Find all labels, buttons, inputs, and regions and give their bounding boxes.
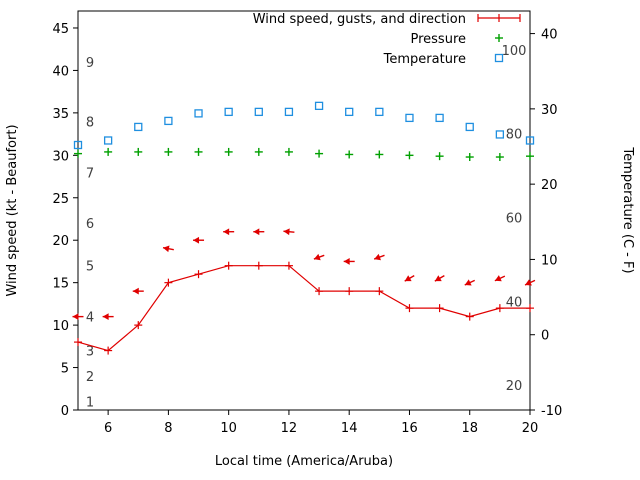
x-axis-tick-label: 12 <box>281 421 298 436</box>
wind-direction-arrowhead <box>223 228 229 235</box>
weather-chart: 051015202530354045Wind speed (kt - Beauf… <box>0 0 640 480</box>
temperature-point <box>105 137 112 144</box>
temperature-point <box>225 108 232 115</box>
x-axis-tick-label: 18 <box>461 421 478 436</box>
temperature-point <box>376 108 383 115</box>
temperature-point <box>466 123 473 130</box>
y-axis-right-title: Temperature (C - F) <box>620 146 635 273</box>
legend-label-pressure: Pressure <box>410 32 466 47</box>
legend-label-wind: Wind speed, gusts, and direction <box>253 12 466 27</box>
y-axis-left-tick-label: 20 <box>52 234 69 249</box>
temperature-point <box>406 114 413 121</box>
y-axis-left-title: Wind speed (kt - Beaufort) <box>5 124 20 296</box>
beaufort-label: 8 <box>86 115 94 130</box>
y-axis-left-tick-label: 10 <box>52 319 69 334</box>
series-temperature <box>75 102 534 148</box>
wind-direction-arrowhead <box>163 245 169 252</box>
y-axis-right: -10010203040Temperature (C - F) <box>530 28 635 419</box>
fahrenheit-scale: 20406080100 <box>502 44 527 394</box>
beaufort-label: 6 <box>86 217 94 232</box>
y-axis-left-tick-label: 0 <box>61 404 69 419</box>
y-axis-left-tick-label: 30 <box>52 149 69 164</box>
x-axis-tick-label: 16 <box>401 421 418 436</box>
x-axis-tick-label: 10 <box>220 421 237 436</box>
temperature-point <box>316 102 323 109</box>
wind-direction-arrowhead <box>344 258 350 265</box>
temperature-point <box>346 108 353 115</box>
x-axis: 68101214161820Local time (America/Aruba) <box>104 410 538 469</box>
temperature-point <box>436 114 443 121</box>
y-axis-right-tick-label: -10 <box>541 404 562 419</box>
axis-frame <box>78 11 530 410</box>
y-axis-left-tick-label: 40 <box>52 64 69 79</box>
beaufort-label: 2 <box>86 370 94 385</box>
plot-frame <box>78 11 530 410</box>
y-axis-left: 051015202530354045Wind speed (kt - Beauf… <box>5 22 78 419</box>
fahrenheit-label: 20 <box>506 379 523 394</box>
y-axis-right-tick-label: 10 <box>541 253 558 268</box>
wind-direction-arrowhead <box>133 288 139 295</box>
temperature-point <box>255 108 262 115</box>
legend-label-temperature: Temperature <box>383 52 466 67</box>
temperature-point <box>285 108 292 115</box>
wind-direction-arrows <box>73 228 535 320</box>
y-axis-left-tick-label: 45 <box>52 22 69 37</box>
wind-direction-arrowhead <box>193 237 199 244</box>
y-axis-left-tick-label: 35 <box>52 107 69 122</box>
beaufort-label: 1 <box>86 396 94 411</box>
y-axis-left-tick-label: 15 <box>52 277 69 292</box>
y-axis-right-tick-label: 20 <box>541 178 558 193</box>
x-axis-tick-label: 8 <box>164 421 172 436</box>
series-wind <box>74 262 534 355</box>
fahrenheit-label: 100 <box>502 44 527 59</box>
y-axis-right-tick-label: 30 <box>541 103 558 118</box>
temperature-point <box>135 123 142 130</box>
fahrenheit-label: 80 <box>506 128 523 143</box>
y-axis-right-tick-label: 40 <box>541 28 558 43</box>
beaufort-label: 9 <box>86 56 94 71</box>
temperature-point <box>496 131 503 138</box>
beaufort-label: 4 <box>86 311 94 326</box>
wind-speed-line <box>78 266 530 351</box>
y-axis-left-tick-label: 25 <box>52 192 69 207</box>
wind-direction-arrowhead <box>253 228 259 235</box>
beaufort-label: 5 <box>86 260 94 275</box>
x-axis-tick-label: 20 <box>522 421 539 436</box>
wind-direction-arrowhead <box>283 228 289 235</box>
x-axis-title: Local time (America/Aruba) <box>215 454 393 469</box>
beaufort-scale: 123456789 <box>86 56 94 411</box>
beaufort-label: 7 <box>86 166 94 181</box>
series-pressure <box>74 148 534 161</box>
wind-direction-arrowhead <box>73 313 79 320</box>
chart-container: 051015202530354045Wind speed (kt - Beauf… <box>0 0 640 480</box>
temperature-point <box>165 117 172 124</box>
temperature-point <box>195 110 202 117</box>
wind-direction-arrowhead <box>103 313 109 320</box>
x-axis-tick-label: 6 <box>104 421 112 436</box>
fahrenheit-label: 60 <box>506 211 523 226</box>
legend: Wind speed, gusts, and directionPressure… <box>253 12 520 67</box>
x-axis-tick-label: 14 <box>341 421 358 436</box>
y-axis-left-tick-label: 5 <box>61 362 69 377</box>
y-axis-right-tick-label: 0 <box>541 329 549 344</box>
